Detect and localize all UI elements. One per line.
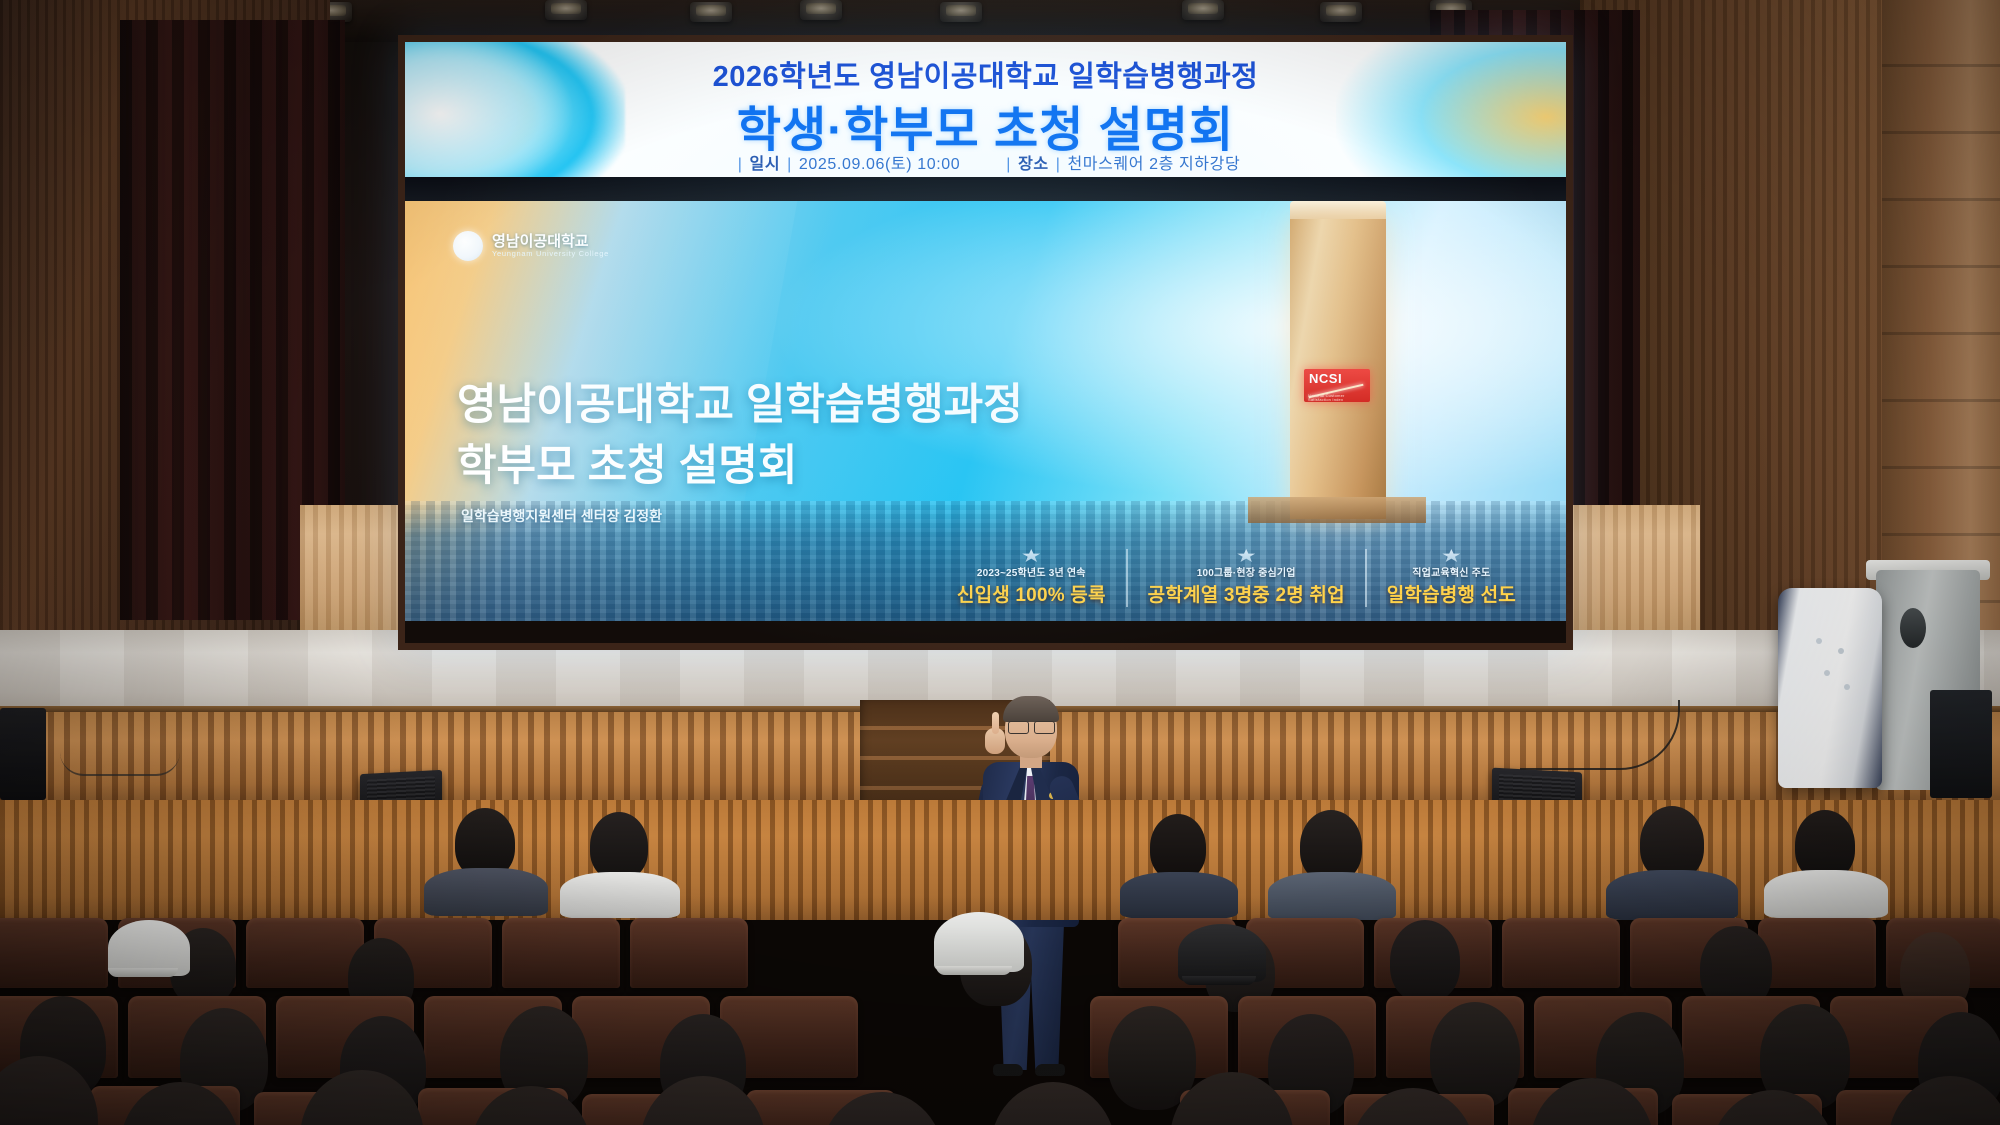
- logo-korean-text: 영남이공대학교: [492, 234, 609, 250]
- banner-date-value: 2025.09.06(토) 10:00: [799, 156, 960, 173]
- presentation-slide: 영남이공대학교 Yeungnam University College NCSI…: [405, 201, 1566, 621]
- auditorium-seat: [502, 918, 620, 988]
- ceiling-light-icon: [1182, 0, 1224, 20]
- slide-title: 영남이공대학교 일학습병행과정 학부모 초청 설명회: [457, 375, 1217, 497]
- audience-head: [1640, 806, 1704, 880]
- screen-banner: 2026학년도 영남이공대학교 일학습병행과정 학생·학부모 초청 설명회 |일…: [405, 42, 1566, 177]
- slide-title-line2: 학부모 초청 설명회: [457, 436, 1217, 497]
- logo-mark-icon: [453, 231, 483, 261]
- auditorium-seat: [630, 918, 748, 988]
- star-icon: [1237, 549, 1255, 562]
- banner-detail-line: |일시|2025.09.06(토) 10:00 |장소|천마스퀘어 2층 지하강…: [405, 150, 1566, 174]
- university-logo: 영남이공대학교 Yeungnam University College: [453, 231, 609, 261]
- audience-shoulders: [1268, 872, 1396, 920]
- podium-handle: [1900, 608, 1926, 648]
- audience-head: [590, 812, 648, 880]
- logo-english-text: Yeungnam University College: [492, 250, 609, 258]
- ceiling-light-icon: [800, 0, 842, 20]
- air-purifier: [1778, 588, 1882, 788]
- banner-sep: |: [1006, 156, 1011, 173]
- audience-head: [1150, 814, 1206, 880]
- auditorium-seat: [0, 918, 108, 988]
- audience-head: [640, 1076, 766, 1125]
- ceiling-light-icon: [545, 0, 587, 20]
- audience-cap-brim: [1182, 976, 1256, 985]
- audience-cap: [934, 912, 1024, 972]
- side-speaker: [0, 708, 46, 800]
- audience-shoulders: [1606, 870, 1738, 920]
- auditorium-seat: [1758, 918, 1876, 988]
- stat-caption: 2023~25학년도 3년 연속: [957, 564, 1106, 579]
- ceiling-light-icon: [940, 2, 982, 22]
- presenter-glasses: [1008, 721, 1055, 732]
- presenter-index-finger: [992, 712, 999, 734]
- audience-seating: [0, 800, 2000, 1125]
- banner-headline-small: 2026학년도 영남이공대학교 일학습병행과정: [405, 53, 1566, 95]
- ncsi-caption: National Customer Satisfaction Index: [1308, 394, 1366, 401]
- slide-tower-base: [1248, 497, 1426, 523]
- stat-item: 100그룹·현장 중심기업 공학계열 3명중 2명 취업: [1126, 549, 1365, 607]
- ceiling-light-icon: [690, 2, 732, 22]
- screen-bezel-gap: [405, 177, 1566, 201]
- ncsi-label: NCSI: [1309, 371, 1342, 386]
- stat-caption: 100그룹·현장 중심기업: [1148, 564, 1345, 579]
- audience-shoulders: [424, 868, 548, 916]
- led-screen: 2026학년도 영남이공대학교 일학습병행과정 학생·학부모 초청 설명회 |일…: [398, 35, 1573, 650]
- slide-title-line1: 영남이공대학교 일학습병행과정: [457, 375, 1217, 436]
- auditorium-seat: [1502, 918, 1620, 988]
- ncsi-badge: NCSI National Customer Satisfaction Inde…: [1304, 369, 1370, 402]
- banner-sep: |: [787, 156, 792, 173]
- slide-stats-row: 2023~25학년도 3년 연속 신입생 100% 등록 100그룹·현장 중심…: [405, 549, 1566, 607]
- banner-place-value: 천마스퀘어 2층 지하강당: [1067, 156, 1240, 173]
- star-icon: [1442, 549, 1460, 562]
- auditorium-photo: 2026학년도 영남이공대학교 일학습병행과정 학생·학부모 초청 설명회 |일…: [0, 0, 2000, 1125]
- stat-item: 직업교육혁신 주도 일학습병행 선도: [1365, 549, 1536, 607]
- presenter-hair: [1003, 696, 1059, 722]
- auditorium-seat: [246, 918, 364, 988]
- banner-sep: |: [738, 156, 743, 173]
- stat-caption: 직업교육혁신 주도: [1387, 564, 1516, 579]
- subwoofer: [1930, 690, 1992, 798]
- star-icon: [1022, 549, 1040, 562]
- audience-head: [1430, 1002, 1520, 1108]
- audience-shoulders: [560, 872, 680, 918]
- stat-value: 공학계열 3명중 2명 취업: [1148, 580, 1345, 607]
- slide-presenter-credit: 일학습병행지원센터 센터장 김정환: [461, 506, 662, 526]
- audience-shoulders: [1764, 870, 1888, 918]
- audience-cap-brim: [108, 968, 178, 977]
- banner-date-label: 일시: [750, 156, 781, 173]
- stat-value: 신입생 100% 등록: [957, 580, 1106, 607]
- banner-sep: |: [1056, 156, 1061, 173]
- cable: [60, 752, 180, 776]
- audience-head: [1390, 920, 1460, 1002]
- banner-place-label: 장소: [1018, 156, 1049, 173]
- audience-shoulders: [1120, 872, 1238, 918]
- audience-cap: [1178, 924, 1266, 982]
- audience-head: [990, 1082, 1116, 1125]
- stat-item: 2023~25학년도 3년 연속 신입생 100% 등록: [937, 549, 1126, 607]
- stat-value: 일학습병행 선도: [1387, 580, 1516, 607]
- ceiling-light-icon: [1320, 2, 1362, 22]
- audience-cap-brim: [936, 966, 1012, 975]
